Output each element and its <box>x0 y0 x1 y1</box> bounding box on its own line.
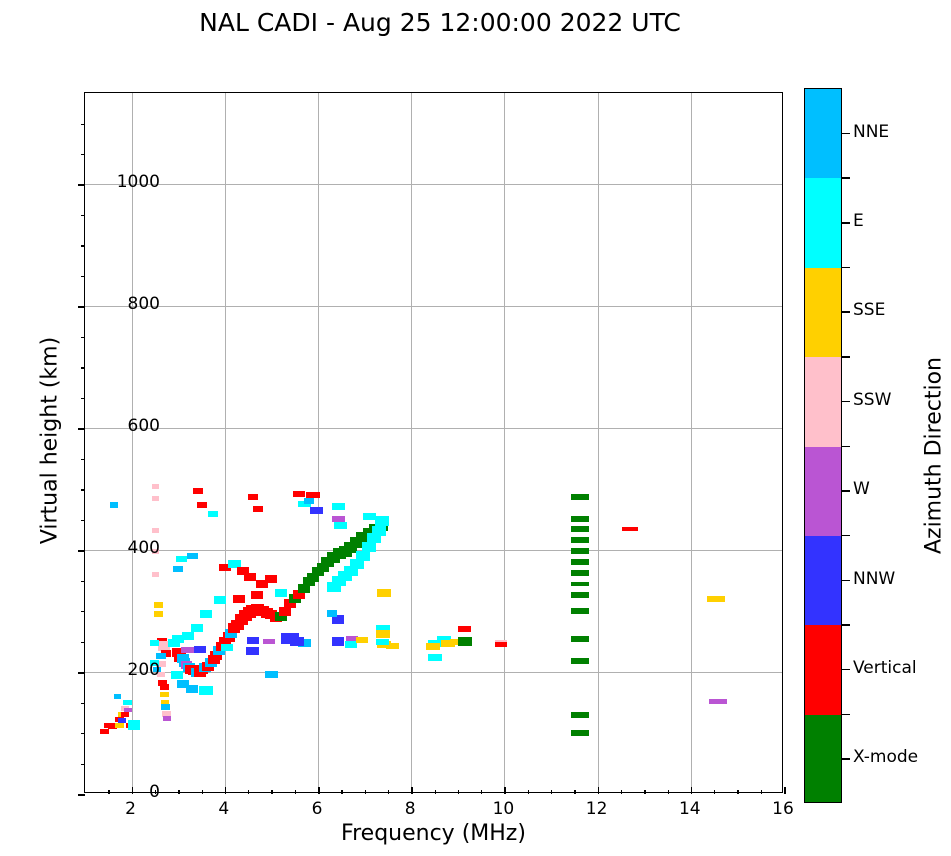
colorbar-boundary-tick <box>842 446 850 448</box>
data-echo-sse <box>376 630 390 638</box>
gridline-vertical <box>411 93 412 792</box>
x-tick-major <box>598 787 600 794</box>
gridline-horizontal <box>85 184 782 185</box>
x-tick-minor <box>435 790 436 794</box>
colorbar-segment-w[interactable] <box>805 447 841 537</box>
x-tick-label: 2 <box>101 799 161 819</box>
gridline-vertical <box>132 93 133 792</box>
data-echo-x-mode <box>571 608 589 614</box>
data-echo-nne <box>114 694 121 699</box>
data-echo-e <box>168 639 180 647</box>
colorbar-tick <box>842 580 850 582</box>
data-echo-x-mode <box>458 637 472 646</box>
data-echo-vertical <box>622 527 638 531</box>
data-echo-x-mode <box>571 548 589 554</box>
x-tick-minor <box>668 790 669 794</box>
data-echo-sse <box>154 602 163 608</box>
x-tick-minor <box>365 790 366 794</box>
data-echo-e <box>375 516 389 526</box>
data-echo-e <box>199 686 213 695</box>
colorbar-tick <box>842 133 850 135</box>
data-echo-x-mode <box>571 526 589 532</box>
colorbar-tick <box>842 311 850 313</box>
x-tick-minor <box>202 790 203 794</box>
data-echo-sse <box>377 589 391 597</box>
y-tick-label: 200 <box>40 660 160 680</box>
x-tick-label: 10 <box>473 799 533 819</box>
data-echo-e <box>128 720 140 730</box>
colorbar-tick <box>842 490 850 492</box>
data-echo-nne <box>173 566 183 572</box>
x-tick-major <box>504 787 506 794</box>
data-echo-vertical <box>293 491 305 497</box>
y-axis-title: Virtual height (km) <box>38 141 63 741</box>
data-echo-x-mode <box>571 494 589 500</box>
x-tick-minor <box>271 790 272 794</box>
colorbar-segment-nnw[interactable] <box>805 536 841 626</box>
data-echo-sse <box>426 643 440 650</box>
data-echo-e <box>363 513 376 520</box>
y-tick-label: 1000 <box>40 172 160 192</box>
data-echo-nnw <box>118 718 126 723</box>
y-tick-minor <box>81 520 85 521</box>
x-tick-minor <box>248 790 249 794</box>
data-echo-e <box>171 671 183 679</box>
y-tick-minor <box>81 245 85 246</box>
y-tick-minor <box>81 489 85 490</box>
data-echo-vertical <box>306 492 320 498</box>
colorbar-segment-vertical[interactable] <box>805 625 841 715</box>
data-echo-ssw <box>152 572 159 577</box>
y-tick-minor <box>81 154 85 155</box>
data-echo-ssw <box>152 496 159 501</box>
data-echo-e <box>150 640 159 646</box>
data-echo-w <box>709 699 727 704</box>
colorbar-label-vertical: Vertical <box>853 658 917 678</box>
data-echo-x-mode <box>571 592 589 598</box>
y-tick-minor <box>81 337 85 338</box>
colorbar-label-x-mode: X-mode <box>853 747 918 767</box>
data-echo-e <box>214 596 226 604</box>
x-tick-major <box>225 787 227 794</box>
x-tick-minor <box>341 790 342 794</box>
x-tick-minor <box>644 790 645 794</box>
data-echo-e <box>362 542 376 552</box>
x-tick-minor <box>528 790 529 794</box>
colorbar-title: Azimuth Direction <box>922 156 947 756</box>
data-echo-e <box>208 511 218 517</box>
y-tick-minor <box>81 124 85 125</box>
data-echo-vertical <box>248 494 258 500</box>
data-echo-e <box>123 700 132 705</box>
y-tick-minor <box>81 581 85 582</box>
data-echo-e <box>372 526 386 536</box>
data-echo-x-mode <box>571 636 589 642</box>
colorbar-boundary-tick <box>842 267 850 269</box>
data-echo-x-mode <box>571 582 589 586</box>
x-axis-title: Frequency (MHz) <box>84 821 783 846</box>
colorbar-label-ssw: SSW <box>853 390 891 410</box>
colorbar-boundary-tick <box>842 624 850 626</box>
x-tick-minor <box>551 790 552 794</box>
data-echo-x-mode <box>571 516 589 522</box>
data-echo-vertical <box>265 575 277 583</box>
data-echo-ssw <box>152 528 159 533</box>
x-tick-major <box>784 787 786 794</box>
x-tick-label: 12 <box>567 799 627 819</box>
x-tick-minor <box>295 790 296 794</box>
data-echo-sse <box>160 692 169 697</box>
x-tick-minor <box>574 790 575 794</box>
data-echo-nnw <box>332 637 344 646</box>
data-echo-sse <box>356 637 368 643</box>
colorbar-boundary-tick <box>842 535 850 537</box>
data-echo-nnw <box>290 637 304 646</box>
gridline-horizontal <box>85 306 782 307</box>
y-tick-label: 400 <box>40 538 160 558</box>
x-tick-minor <box>178 790 179 794</box>
gridline-vertical <box>598 93 599 792</box>
data-echo-e <box>345 641 357 648</box>
data-echo-sse <box>707 596 725 602</box>
data-echo-e <box>221 644 233 651</box>
data-echo-nne <box>156 653 166 659</box>
data-echo-x-mode <box>571 570 589 576</box>
data-echo-nnw <box>194 646 206 653</box>
x-tick-minor <box>458 790 459 794</box>
gridline-vertical <box>318 93 319 792</box>
x-tick-label: 4 <box>194 799 254 819</box>
data-echo-nne <box>186 685 198 693</box>
data-echo-vertical <box>160 684 169 690</box>
data-echo-e <box>428 654 442 661</box>
colorbar-segment-ssw[interactable] <box>805 357 841 447</box>
data-echo-x-mode <box>571 712 589 718</box>
data-echo-vertical <box>253 506 263 512</box>
x-tick-minor <box>737 790 738 794</box>
page-title: NAL CADI - Aug 25 12:00:00 2022 UTC <box>0 8 880 37</box>
x-tick-major <box>411 787 413 794</box>
data-echo-e <box>176 556 187 562</box>
data-echo-vertical <box>121 712 129 717</box>
data-echo-nnw <box>246 647 259 655</box>
data-echo-x-mode <box>571 658 589 664</box>
data-echo-nne <box>265 671 278 678</box>
data-echo-vertical <box>251 591 263 599</box>
y-tick-minor <box>81 642 85 643</box>
y-tick-minor <box>81 398 85 399</box>
x-tick-major <box>318 787 320 794</box>
x-tick-minor <box>481 790 482 794</box>
data-echo-e <box>334 522 347 529</box>
data-echo-sse <box>154 611 163 617</box>
colorbar-label-e: E <box>853 211 864 231</box>
x-tick-major <box>691 787 693 794</box>
data-echo-vertical <box>233 595 245 603</box>
y-tick-label: 600 <box>40 416 160 436</box>
x-tick-minor <box>714 790 715 794</box>
data-echo-w <box>332 516 345 522</box>
colorbar-tick <box>842 758 850 760</box>
y-tick-minor <box>81 459 85 460</box>
gridline-vertical <box>225 93 226 792</box>
x-tick-label: 8 <box>380 799 440 819</box>
data-echo-w <box>163 716 171 721</box>
colorbar-segment-sse[interactable] <box>805 268 841 358</box>
colorbar-segment-nne[interactable] <box>805 89 841 179</box>
y-tick-minor <box>81 611 85 612</box>
y-tick-minor <box>81 733 85 734</box>
data-echo-e <box>332 503 345 510</box>
y-tick-minor <box>81 764 85 765</box>
y-tick-minor <box>81 703 85 704</box>
data-echo-x-mode <box>571 537 589 543</box>
y-tick-minor <box>81 276 85 277</box>
colorbar-boundary-tick <box>842 356 850 358</box>
colorbar-boundary-tick <box>842 177 850 179</box>
plot-canvas <box>85 93 782 792</box>
y-tick-label: 800 <box>40 294 160 314</box>
data-echo-x-mode <box>571 559 589 565</box>
data-echo-w <box>124 708 132 712</box>
colorbar-segment-e[interactable] <box>805 178 841 268</box>
colorbar-label-sse: SSE <box>853 300 885 320</box>
data-echo-vertical <box>458 626 471 632</box>
colorbar-tick <box>842 669 850 671</box>
x-tick-minor <box>761 790 762 794</box>
colorbar <box>804 88 842 803</box>
y-tick-minor <box>81 367 85 368</box>
data-echo-ssw <box>152 484 159 489</box>
data-echo-nne <box>110 502 118 508</box>
data-echo-nnw <box>247 637 259 644</box>
x-tick-label: 14 <box>660 799 720 819</box>
data-echo-w <box>263 639 275 644</box>
x-tick-minor <box>621 790 622 794</box>
colorbar-boundary-tick <box>842 714 850 716</box>
colorbar-label-w: W <box>853 479 870 499</box>
data-echo-vertical <box>193 488 203 494</box>
x-tick-label: 6 <box>287 799 347 819</box>
gridline-horizontal <box>85 550 782 551</box>
data-echo-e <box>200 610 212 618</box>
data-echo-nne <box>304 498 314 504</box>
data-echo-vertical <box>197 502 207 508</box>
data-echo-nnw <box>310 507 323 514</box>
data-echo-e <box>275 589 287 597</box>
colorbar-label-nne: NNE <box>853 122 889 142</box>
colorbar-segment-x-mode[interactable] <box>805 715 841 803</box>
data-echo-w <box>181 647 195 653</box>
data-echo-nne <box>187 553 198 559</box>
colorbar-tick <box>842 401 850 403</box>
y-tick-minor <box>81 215 85 216</box>
data-echo-e <box>356 551 370 561</box>
x-tick-minor <box>388 790 389 794</box>
gridline-horizontal <box>85 428 782 429</box>
data-echo-nne <box>161 704 170 710</box>
colorbar-label-nnw: NNW <box>853 569 895 589</box>
gridline-vertical <box>504 93 505 792</box>
data-echo-vertical <box>244 573 256 581</box>
data-echo-vertical <box>100 729 109 734</box>
plot-area <box>84 92 783 793</box>
data-echo-nne <box>327 610 337 617</box>
data-echo-vertical <box>495 642 507 647</box>
data-echo-x-mode <box>571 730 589 736</box>
x-tick-label: 16 <box>753 799 813 819</box>
data-echo-e <box>376 639 389 645</box>
data-echo-nnw <box>332 615 344 624</box>
colorbar-tick <box>842 222 850 224</box>
gridline-vertical <box>691 93 692 792</box>
